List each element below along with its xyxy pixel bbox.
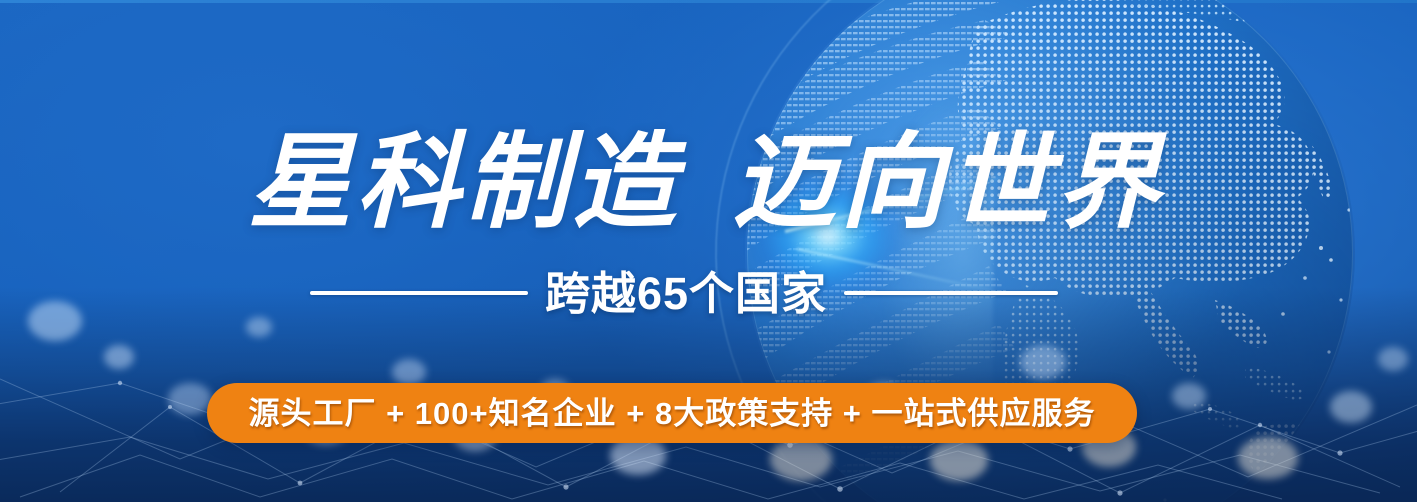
feature-pill-label: 源头工厂 + 100+知名企业 + 8大政策支持 + 一站式供应服务 bbox=[248, 398, 1095, 429]
banner-headline: 星科制造 迈向世界 bbox=[248, 108, 1178, 236]
bokeh-particle bbox=[1020, 345, 1066, 379]
bokeh-particle bbox=[168, 383, 212, 415]
bokeh-particle bbox=[1378, 347, 1408, 371]
subtitle-rule-right bbox=[844, 291, 1058, 295]
bokeh-particle bbox=[1330, 391, 1372, 423]
banner-subtitle: 跨越65个国家 bbox=[538, 271, 834, 316]
bokeh-particle bbox=[246, 317, 272, 337]
bokeh-particle bbox=[104, 345, 134, 369]
top-accent-line bbox=[0, 0, 1417, 3]
headline-part-2: 迈向世界 bbox=[732, 97, 1164, 248]
bokeh-particle bbox=[1238, 437, 1298, 479]
headline-part-1: 星科制造 bbox=[248, 97, 680, 248]
bokeh-particle bbox=[392, 359, 426, 385]
bokeh-particle bbox=[1172, 383, 1206, 409]
subtitle-rule-left bbox=[310, 291, 528, 295]
bokeh-particle bbox=[28, 301, 82, 341]
promo-banner: 星科制造 迈向世界 跨越65个国家 源头工厂 + 100+知名企业 + 8大政策… bbox=[0, 0, 1417, 502]
feature-pill[interactable]: 源头工厂 + 100+知名企业 + 8大政策支持 + 一站式供应服务 bbox=[207, 383, 1137, 443]
banner-subtitle-row: 跨越65个国家 bbox=[310, 262, 1058, 324]
bokeh-particle bbox=[770, 437, 832, 481]
bokeh-particle bbox=[930, 439, 988, 481]
